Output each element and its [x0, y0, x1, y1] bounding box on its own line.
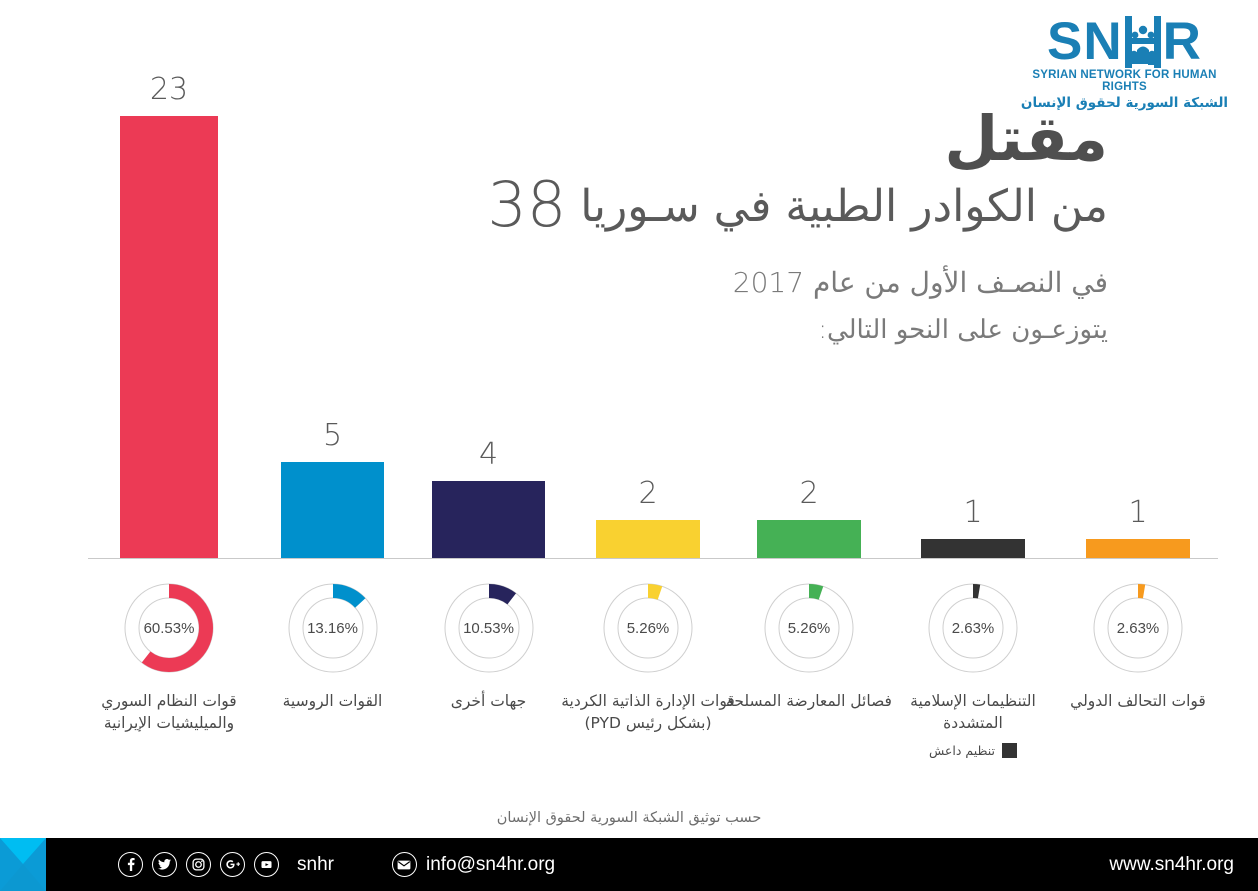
label-line: قوات النظام السوري [79, 690, 259, 712]
bar-chart: 23542211 60.53%قوات النظام السوريوالميلي… [0, 0, 1258, 800]
donut-chart: 2.63% [921, 576, 1025, 680]
bar-rect[interactable] [281, 462, 384, 558]
youtube-icon[interactable] [254, 852, 279, 877]
label-line: والميليشيات الإيرانية [79, 712, 259, 734]
donut-percent-label: 2.63% [921, 576, 1025, 680]
bar-value-label: 1 [921, 495, 1025, 530]
instagram-icon[interactable] [186, 852, 211, 877]
bar-rect[interactable] [1086, 539, 1190, 558]
bar-rect[interactable] [120, 116, 218, 558]
donut-category-label: فصائل المعارضة المسلحة [719, 690, 899, 712]
donut-chart: 10.53% [437, 576, 541, 680]
donut-percent-label: 5.26% [596, 576, 700, 680]
donut-percent-label: 10.53% [437, 576, 541, 680]
bar-value-label: 5 [281, 418, 384, 453]
donut-chart: 2.63% [1086, 576, 1190, 680]
chart-baseline [88, 558, 1218, 559]
googleplus-icon[interactable] [220, 852, 245, 877]
label-line: قوات التحالف الدولي [1048, 690, 1228, 712]
donut-category-label: جهات أخرى [399, 690, 579, 712]
bar-value-label: 2 [596, 476, 700, 511]
footer-bar: snhr info@sn4hr.org www.sn4hr.org [0, 838, 1258, 891]
donut-column: 13.16%القوات الروسية [243, 576, 423, 712]
donut-column: 2.63%قوات التحالف الدولي [1048, 576, 1228, 712]
email-address: info@sn4hr.org [426, 854, 555, 876]
corner-chevron-decoration [0, 838, 46, 891]
isis-legend: تنظيم داعش [883, 743, 1063, 758]
donut-column: 60.53%قوات النظام السوريوالميليشيات الإي… [79, 576, 259, 735]
twitter-icon[interactable] [152, 852, 177, 877]
label-line: قوات الإدارة الذاتية الكردية [558, 690, 738, 712]
bar-value-label: 23 [120, 72, 218, 107]
bar-value-label: 1 [1086, 495, 1190, 530]
source-attribution: حسب توثيق الشبكة السورية لحقوق الإنسان [0, 810, 1258, 826]
legend-swatch [1002, 743, 1017, 758]
bar-rect[interactable] [432, 481, 545, 558]
donut-percent-label: 5.26% [757, 576, 861, 680]
email-icon[interactable] [392, 852, 417, 877]
donut-chart: 13.16% [281, 576, 385, 680]
donut-category-label: القوات الروسية [243, 690, 423, 712]
bar-rect[interactable] [921, 539, 1025, 558]
donut-percent-label: 60.53% [117, 576, 221, 680]
donut-chart: 5.26% [757, 576, 861, 680]
label-line: (بشكل رئيس PYD) [558, 712, 738, 734]
donut-percent-label: 13.16% [281, 576, 385, 680]
bar-rect[interactable] [596, 520, 700, 558]
label-line: التنظيمات الإسلامية [883, 690, 1063, 712]
donut-category-label: قوات النظام السوريوالميليشيات الإيرانية [79, 690, 259, 735]
facebook-icon[interactable] [118, 852, 143, 877]
donut-column: 2.63%التنظيمات الإسلاميةالمتشددة تنظيم د… [883, 576, 1063, 758]
donut-percent-label: 2.63% [1086, 576, 1190, 680]
donut-chart: 5.26% [596, 576, 700, 680]
donut-chart: 60.53% [117, 576, 221, 680]
social-handle: snhr [297, 854, 334, 876]
label-line: القوات الروسية [243, 690, 423, 712]
donut-column: 5.26%فصائل المعارضة المسلحة [719, 576, 899, 712]
bar-rect[interactable] [757, 520, 861, 558]
donut-category-label: قوات التحالف الدولي [1048, 690, 1228, 712]
bar-value-label: 4 [432, 437, 545, 472]
website-url: www.sn4hr.org [1109, 854, 1234, 876]
donut-column: 10.53%جهات أخرى [399, 576, 579, 712]
donut-category-label: قوات الإدارة الذاتية الكردية(بشكل رئيس P… [558, 690, 738, 735]
email-group[interactable]: info@sn4hr.org [392, 852, 555, 877]
legend-text: تنظيم داعش [929, 743, 995, 758]
donut-column: 5.26%قوات الإدارة الذاتية الكردية(بشكل ر… [558, 576, 738, 735]
donut-category-label: التنظيمات الإسلاميةالمتشددة [883, 690, 1063, 735]
infographic-page: SN R SYRIAN NETWORK FOR HUMAN RIGHTS الش… [0, 0, 1258, 891]
social-icons-group[interactable]: snhr [118, 852, 334, 877]
label-line: فصائل المعارضة المسلحة [719, 690, 899, 712]
label-line: المتشددة [883, 712, 1063, 734]
bar-value-label: 2 [757, 476, 861, 511]
label-line: جهات أخرى [399, 690, 579, 712]
